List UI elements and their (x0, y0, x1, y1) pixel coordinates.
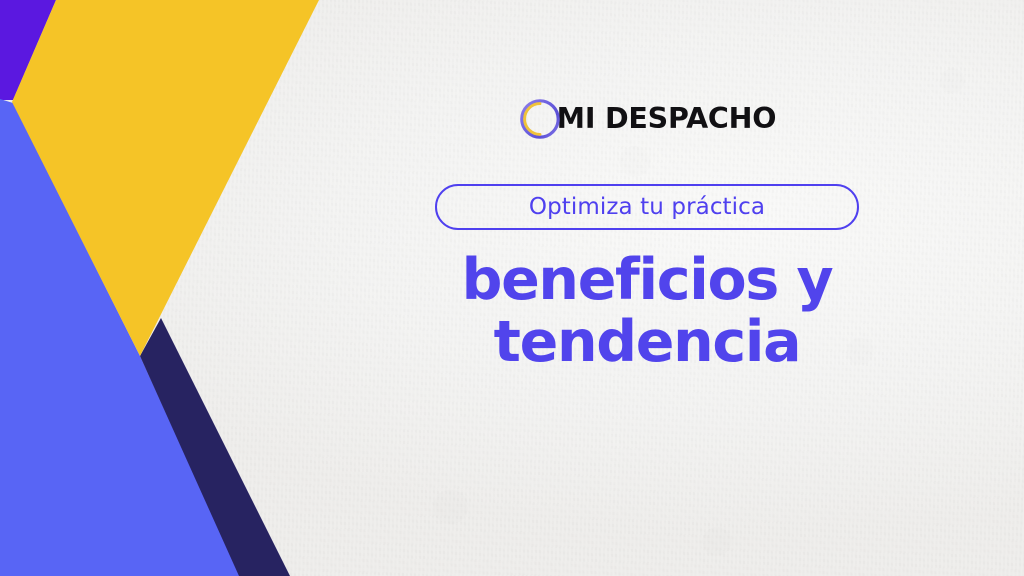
content-column: MI DESPACHO Optimiza tu práctica benefic… (270, 0, 1024, 576)
tagline-pill: Optimiza tu práctica (435, 184, 859, 230)
promo-slide: MI DESPACHO Optimiza tu práctica benefic… (0, 0, 1024, 576)
brand-logo: MI DESPACHO (518, 96, 777, 142)
brand-wordmark: MI DESPACHO (557, 105, 777, 134)
circle-ring-logo-mark-icon (518, 97, 562, 141)
tagline-pill-label: Optimiza tu práctica (529, 196, 765, 219)
page-title: beneficios y tendencia (462, 249, 833, 373)
